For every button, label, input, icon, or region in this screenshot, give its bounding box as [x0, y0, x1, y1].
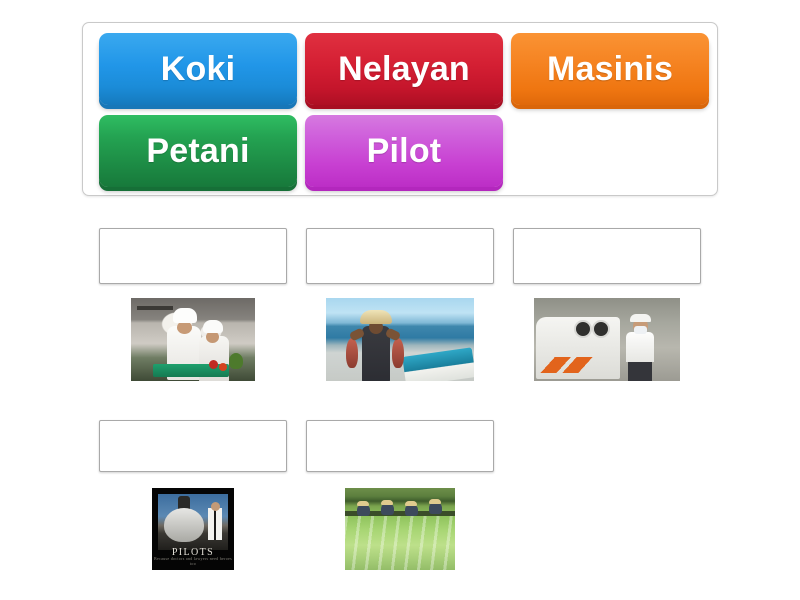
driver-cap	[630, 314, 651, 322]
vegetable-greens	[229, 353, 243, 369]
rice-farmer-hat-3	[405, 501, 417, 506]
chef-toque-primary	[173, 308, 197, 323]
picture-train-driver	[534, 298, 680, 381]
answer-slot-5[interactable]	[306, 420, 494, 472]
word-bank-row-1: Koki Nelayan Masinis	[91, 33, 709, 115]
word-bank-container: Koki Nelayan Masinis Petani Pilot	[82, 22, 718, 196]
word-bank-row-2: Petani Pilot	[91, 115, 709, 197]
vegetable-pepper	[219, 363, 227, 371]
answer-slot-1[interactable]	[99, 228, 287, 284]
word-tile-label: Petani	[146, 132, 249, 171]
word-tile-petani[interactable]: Petani	[99, 115, 297, 187]
train-headlight-right	[592, 320, 610, 338]
picture-fisherman-scene	[326, 298, 474, 381]
word-tile-label: Nelayan	[338, 50, 470, 89]
jet-nose-cone	[164, 508, 204, 542]
driver-uniform	[626, 332, 654, 362]
answer-slot-2[interactable]	[306, 228, 494, 284]
train-headlight-left	[574, 320, 592, 338]
word-tile-koki[interactable]: Koki	[99, 33, 297, 105]
pilot-poster-subcaption: Because doctors and lawyers need heroes …	[152, 556, 234, 566]
answer-slot-4[interactable]	[99, 420, 287, 472]
word-tile-label: Koki	[161, 50, 235, 89]
fishing-boat	[402, 347, 474, 381]
picture-pilot: PILOTS Because doctors and lawyers need …	[152, 488, 234, 570]
rice-farmer-hat-1	[357, 501, 369, 506]
driver-trousers	[628, 360, 652, 381]
chef-toque-secondary	[203, 320, 223, 333]
picture-chef	[131, 298, 255, 381]
picture-farmer	[345, 488, 455, 570]
word-tile-nelayan[interactable]: Nelayan	[305, 33, 503, 105]
picture-farmer-scene	[345, 488, 455, 570]
pilot-poster-photo	[158, 494, 228, 550]
pilot-face	[211, 502, 220, 511]
driver-face-mask	[634, 326, 647, 334]
rice-seedling-rows	[345, 516, 455, 570]
train-chevron-stripe	[539, 357, 592, 373]
word-tile-pilot[interactable]: Pilot	[305, 115, 503, 187]
conical-hat	[360, 310, 392, 324]
pilot-body	[208, 508, 222, 540]
picture-train-driver-scene	[534, 298, 680, 381]
caught-fish-right	[392, 338, 404, 368]
word-tile-masinis[interactable]: Masinis	[511, 33, 709, 105]
rice-farmer-hat-4	[429, 499, 441, 504]
picture-fisherman	[326, 298, 474, 381]
kitchen-rack	[137, 306, 173, 310]
vegetable-tomato	[209, 360, 218, 369]
word-tile-label: Pilot	[367, 132, 442, 171]
caught-fish-left	[346, 338, 358, 368]
answer-slot-3[interactable]	[513, 228, 701, 284]
word-tile-label: Masinis	[547, 50, 673, 89]
rice-farmer-hat-2	[381, 500, 393, 505]
picture-chef-scene	[131, 298, 255, 381]
